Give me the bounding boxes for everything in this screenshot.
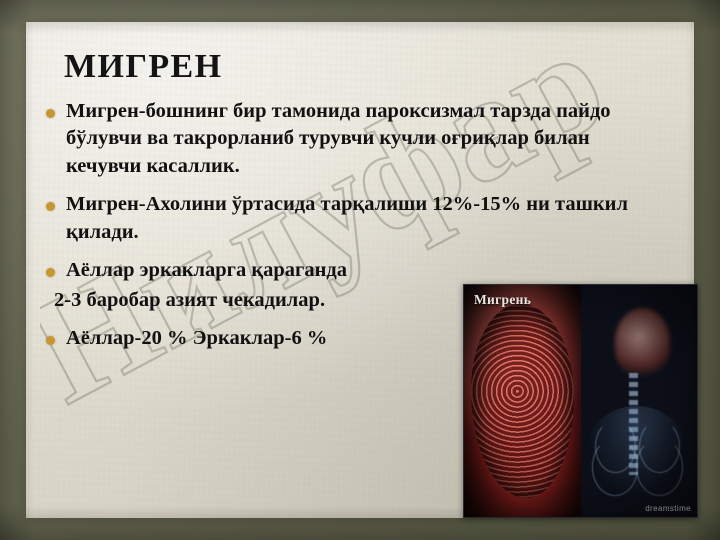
bullet-dot-icon (46, 198, 63, 216)
image-content (464, 285, 697, 517)
bullet-dot-icon (46, 105, 63, 123)
presentation-slide: Нилуфар МИГРЕН Мигрен-бошнинг бир тамони… (0, 0, 720, 540)
page-title: МИГРЕН (64, 48, 222, 86)
list-item-text: Аёллар-20 % Эркаклар-6 % (66, 325, 327, 352)
list-item: Мигрен-бошнинг бир тамонида пароксизмал … (46, 98, 646, 180)
image-credit: dreamstime (645, 504, 691, 513)
image-caption: Мигрень (474, 292, 531, 308)
list-item-text: Мигрен-Ахолини ўртасида тарқалиши 12%-15… (66, 191, 646, 246)
bullet-dot-icon (46, 264, 63, 282)
brain-graphic (464, 285, 581, 517)
list-item-text: Аёллар эркакларга қараганда (66, 257, 347, 284)
list-item-text: Мигрен-бошнинг бир тамонида пароксизмал … (66, 98, 646, 180)
list-item: Мигрен-Ахолини ўртасида тарқалиши 12%-15… (46, 191, 646, 246)
migraine-illustration-image: Мигрень dreamstime (463, 284, 698, 518)
bullet-dot-icon (46, 332, 63, 350)
list-item: Аёллар эркакларга қараганда (46, 257, 646, 284)
xray-head-graphic (576, 285, 697, 517)
